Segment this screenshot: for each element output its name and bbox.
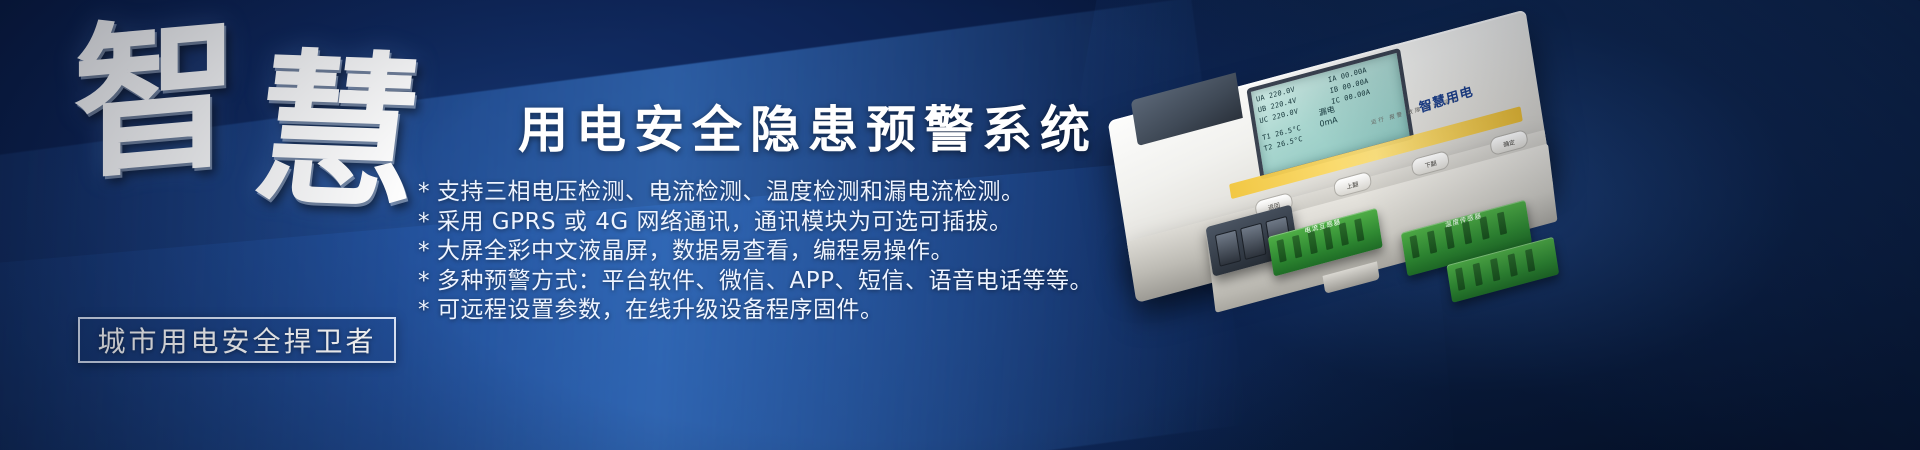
lcd-leakage-readout: 漏电 0mA [1317,103,1338,130]
terminal-pin [1508,253,1518,277]
list-item: *多种预警方式：平台软件、微信、APP、短信、语音电话等等。 [418,267,1138,297]
feature-list: *支持三相电压检测、电流检测、温度检测和漏电流检测。 *采用 GPRS 或 4G… [418,178,1138,326]
page-title: 用电安全隐患预警系统 [518,90,1098,162]
terminal-pin [1473,263,1483,287]
bullet-marker-icon: * [418,267,430,297]
calligraphy-char-1: 智 [73,16,245,180]
list-item: *可远程设置参数，在线升级设备程序固件。 [418,296,1138,326]
slogan-text: 城市用电安全捍卫者 [97,320,376,360]
bullet-marker-icon: * [418,208,430,238]
socket-slot-1 [1215,229,1241,266]
list-item-text: 可远程设置参数，在线升级设备程序固件。 [437,297,884,323]
terminal-pin [1490,258,1500,282]
list-item: *支持三相电压检测、电流检测、温度检测和漏电流检测。 [418,178,1138,208]
terminal-pin [1455,267,1465,291]
slogan-box: 城市用电安全捍卫者 [78,317,396,363]
list-item: *大屏全彩中文液晶屏，数据易查看，编程易操作。 [418,237,1138,267]
socket-slot-2 [1240,223,1266,260]
bullet-marker-icon: * [418,237,430,267]
bullet-marker-icon: * [418,178,430,208]
terminal-pin [1525,249,1535,273]
promo-banner: 智慧 城市用电安全捍卫者 用电安全隐患预警系统 *支持三相电压检测、电流检测、温… [0,0,1920,450]
list-item: *采用 GPRS 或 4G 网络通讯，通讯模块为可选可插拔。 [418,208,1138,238]
list-item-text: 多种预警方式：平台软件、微信、APP、短信、语音电话等等。 [437,268,1093,294]
calligraphy-char-2: 慧 [246,54,435,210]
bullet-marker-icon: * [418,296,430,326]
list-item-text: 大屏全彩中文液晶屏，数据易查看，编程易操作。 [437,238,954,264]
list-item-text: 支持三相电压检测、电流检测、温度检测和漏电流检测。 [437,179,1025,205]
list-item-text: 采用 GPRS 或 4G 网络通讯，通讯模块为可选可插拔。 [437,209,1012,235]
calligraphy-word: 智慧 [62,20,418,312]
